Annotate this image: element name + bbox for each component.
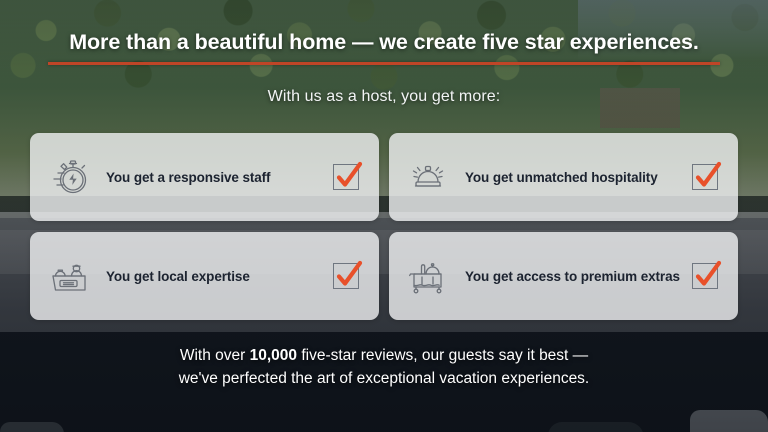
- benefit-card-label: You get unmatched hospitality: [451, 170, 692, 185]
- checkbox-checked[interactable]: [692, 162, 722, 192]
- footer-text-before: With over: [180, 347, 250, 364]
- benefit-card-label: You get local expertise: [92, 269, 333, 284]
- checkbox-checked[interactable]: [333, 162, 363, 192]
- check-icon: [332, 258, 366, 292]
- benefit-card-local-expertise[interactable]: You get local expertise: [30, 232, 379, 320]
- review-count: 10,000: [250, 347, 297, 364]
- benefit-card-label: You get a responsive staff: [92, 170, 333, 185]
- footer-line-1: With over 10,000 five-star reviews, our …: [0, 344, 768, 367]
- checkbox-checked[interactable]: [692, 261, 722, 291]
- benefit-card-responsive-staff[interactable]: You get a responsive staff: [30, 133, 379, 221]
- room-service-cart-icon: [405, 253, 451, 299]
- title-underline-rule: [48, 62, 720, 65]
- stopwatch-lightning-icon: [46, 154, 92, 200]
- footer-testimonial: With over 10,000 five-star reviews, our …: [0, 344, 768, 390]
- benefit-card-label: You get access to premium extras: [451, 269, 692, 284]
- slide-content: More than a beautiful home — we create f…: [0, 0, 768, 432]
- check-icon: [691, 159, 725, 193]
- footer-line-2: we've perfected the art of exceptional v…: [0, 367, 768, 390]
- check-icon: [691, 258, 725, 292]
- page-title: More than a beautiful home — we create f…: [0, 30, 768, 55]
- benefit-card-premium-extras[interactable]: You get access to premium extras: [389, 232, 738, 320]
- service-bell-icon: [405, 154, 451, 200]
- benefit-card-unmatched-hospitality[interactable]: You get unmatched hospitality: [389, 133, 738, 221]
- check-icon: [332, 159, 366, 193]
- concierge-desk-icon: [46, 253, 92, 299]
- subtitle: With us as a host, you get more:: [0, 88, 768, 106]
- benefit-card-grid: You get a responsive staff: [30, 133, 738, 310]
- footer-text-after: five-star reviews, our guests say it bes…: [297, 347, 588, 364]
- checkbox-checked[interactable]: [333, 261, 363, 291]
